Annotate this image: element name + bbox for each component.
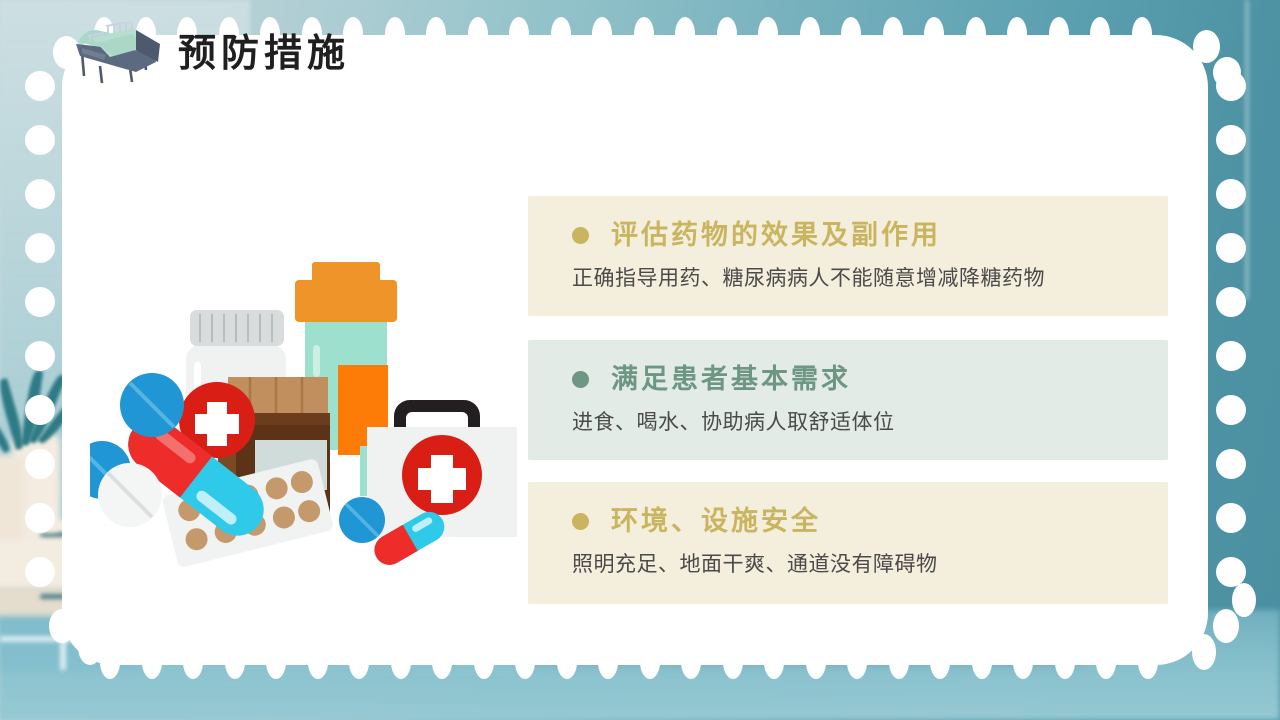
page-title: 预防措施 [178,34,350,72]
background-vase-secondary [0,455,25,540]
medicine-illustration [90,250,520,580]
card-title: 满足患者基本需求 [611,366,851,393]
blue-tablet [339,497,385,543]
card-medication[interactable]: 评估药物的效果及副作用正确指导用药、糖尿病病人不能随意增减降糖药物 [528,196,1168,316]
card-description: 照明充足、地面干爽、通道没有障碍物 [572,552,1124,577]
card-header: 满足患者基本需求 [572,366,1124,393]
card-title: 环境、设施安全 [611,508,821,535]
white-tablet [98,463,162,527]
title-row: 预防措施 [70,22,350,84]
hospital-bed-icon [70,22,162,84]
first-aid-kit [367,400,517,537]
slide-root: 预防措施 [0,0,1280,720]
bullet-icon [572,371,589,388]
background-edge-highlight [1245,0,1249,300]
card-description: 正确指导用药、糖尿病病人不能随意增减降糖药物 [572,266,1124,291]
bullet-icon [572,227,589,244]
card-description: 进食、喝水、协助病人取舒适体位 [572,410,1124,435]
card-environment[interactable]: 环境、设施安全照明充足、地面干爽、通道没有障碍物 [528,482,1168,604]
blue-tablet [120,373,184,437]
card-basic-needs[interactable]: 满足患者基本需求进食、喝水、协助病人取舒适体位 [528,340,1168,460]
bullet-icon [572,513,589,530]
card-header: 环境、设施安全 [572,508,1124,535]
card-title: 评估药物的效果及副作用 [611,222,941,249]
card-header: 评估药物的效果及副作用 [572,222,1124,249]
